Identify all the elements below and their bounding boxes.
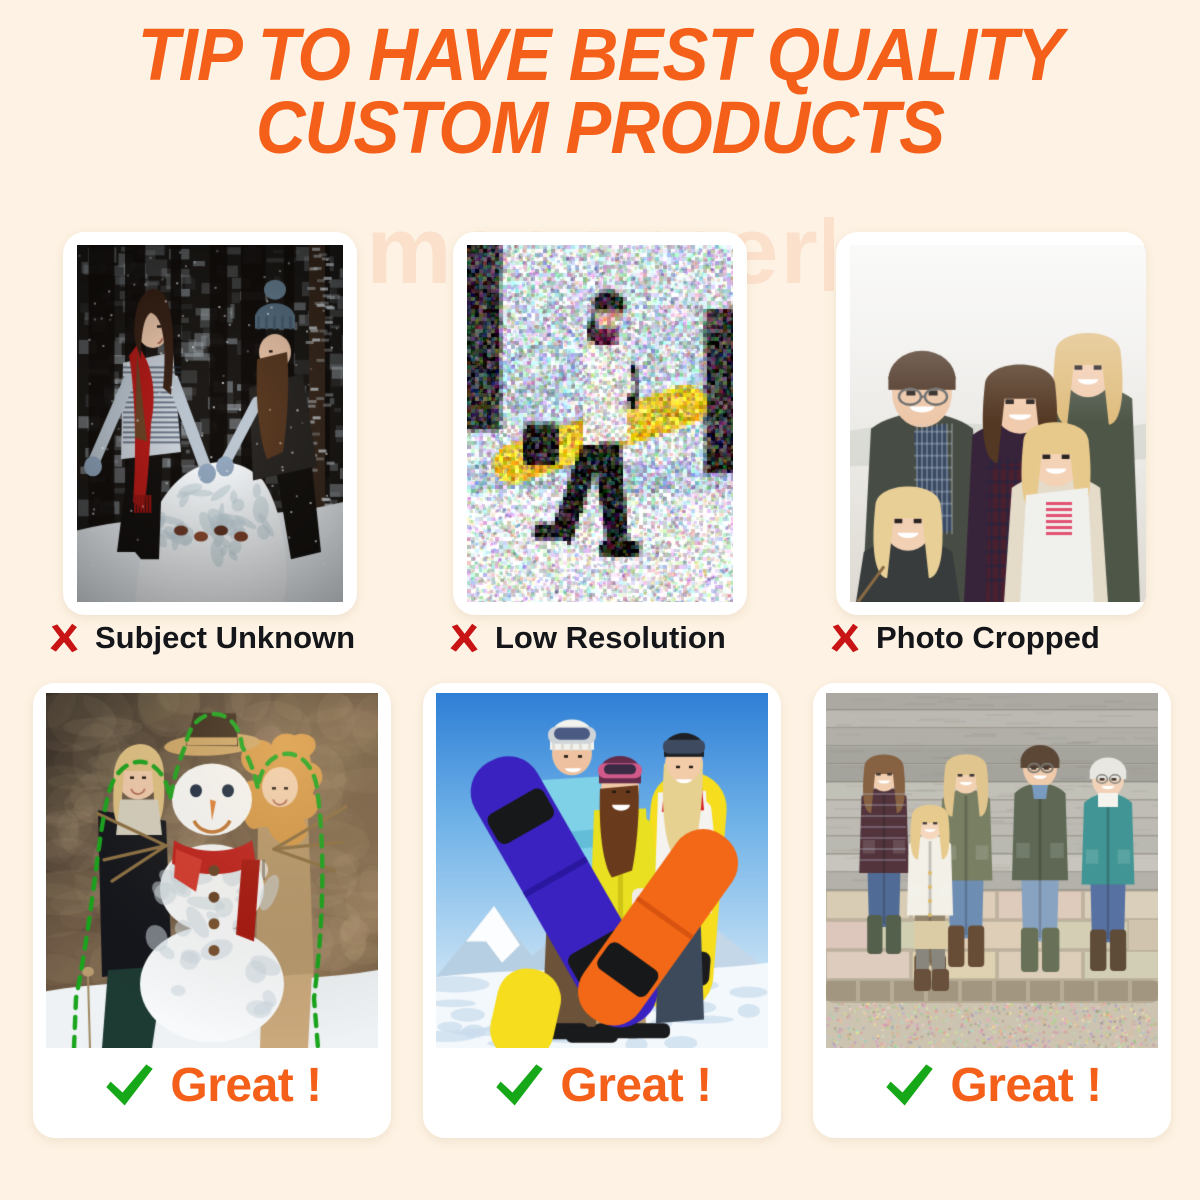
example-label-great-1: Great ! xyxy=(33,1058,391,1113)
example-cell-photo-cropped: Photo Cropped xyxy=(820,222,1180,662)
photo-family-of-five-close-up-cropped xyxy=(850,245,1146,602)
photo-two-women-building-snowman-dark-forest xyxy=(77,245,343,602)
example-label-great-3: Great ! xyxy=(813,1058,1171,1113)
page-title: TIP TO HAVE BEST QUALITY CUSTOM PRODUCTS xyxy=(42,18,1158,165)
x-icon xyxy=(47,621,81,655)
check-icon xyxy=(882,1059,936,1113)
examples-grid: Subject Unknown Low Resolution xyxy=(0,0,1200,1200)
photo-card: Great ! xyxy=(813,683,1171,1138)
example-cell-great-1: Great ! xyxy=(33,683,393,1143)
example-label-text: Great ! xyxy=(560,1058,711,1113)
example-label-text: Great ! xyxy=(950,1058,1101,1113)
example-label-text: Photo Cropped xyxy=(876,620,1100,656)
photo-card: Great ! xyxy=(423,683,781,1138)
example-label-text: Great ! xyxy=(170,1058,321,1113)
example-label-text: Subject Unknown xyxy=(95,620,355,656)
example-cell-great-2: Great ! xyxy=(423,683,783,1143)
check-icon xyxy=(102,1059,156,1113)
photo-card xyxy=(63,232,357,615)
example-cell-low-resolution: Low Resolution xyxy=(437,222,767,662)
example-label-photo-cropped: Photo Cropped xyxy=(828,620,1100,656)
photo-family-of-five-in-front-of-barn xyxy=(826,693,1158,1048)
photo-card: Great ! xyxy=(33,683,391,1138)
check-icon xyxy=(492,1059,546,1113)
photo-two-women-with-snowman-outlined xyxy=(46,693,378,1048)
title-line-2: CUSTOM PRODUCTS xyxy=(42,91,1158,164)
x-icon xyxy=(828,621,862,655)
example-cell-great-3: Great ! xyxy=(813,683,1173,1143)
example-cell-subject-unknown: Subject Unknown xyxy=(47,222,377,662)
photo-card xyxy=(836,232,1146,615)
title-line-1: TIP TO HAVE BEST QUALITY xyxy=(138,13,1063,96)
photo-snowboarder-walking-pixelated xyxy=(467,245,733,602)
promo-graphic: macorner TIP TO HAVE BEST QUALITY CUSTOM… xyxy=(0,0,1200,1200)
example-label-subject-unknown: Subject Unknown xyxy=(47,620,355,656)
example-label-low-resolution: Low Resolution xyxy=(447,620,726,656)
example-label-text: Low Resolution xyxy=(495,620,726,656)
photo-card xyxy=(453,232,747,615)
x-icon xyxy=(447,621,481,655)
example-label-great-2: Great ! xyxy=(423,1058,781,1113)
photo-three-snowboarders-on-mountain xyxy=(436,693,768,1048)
